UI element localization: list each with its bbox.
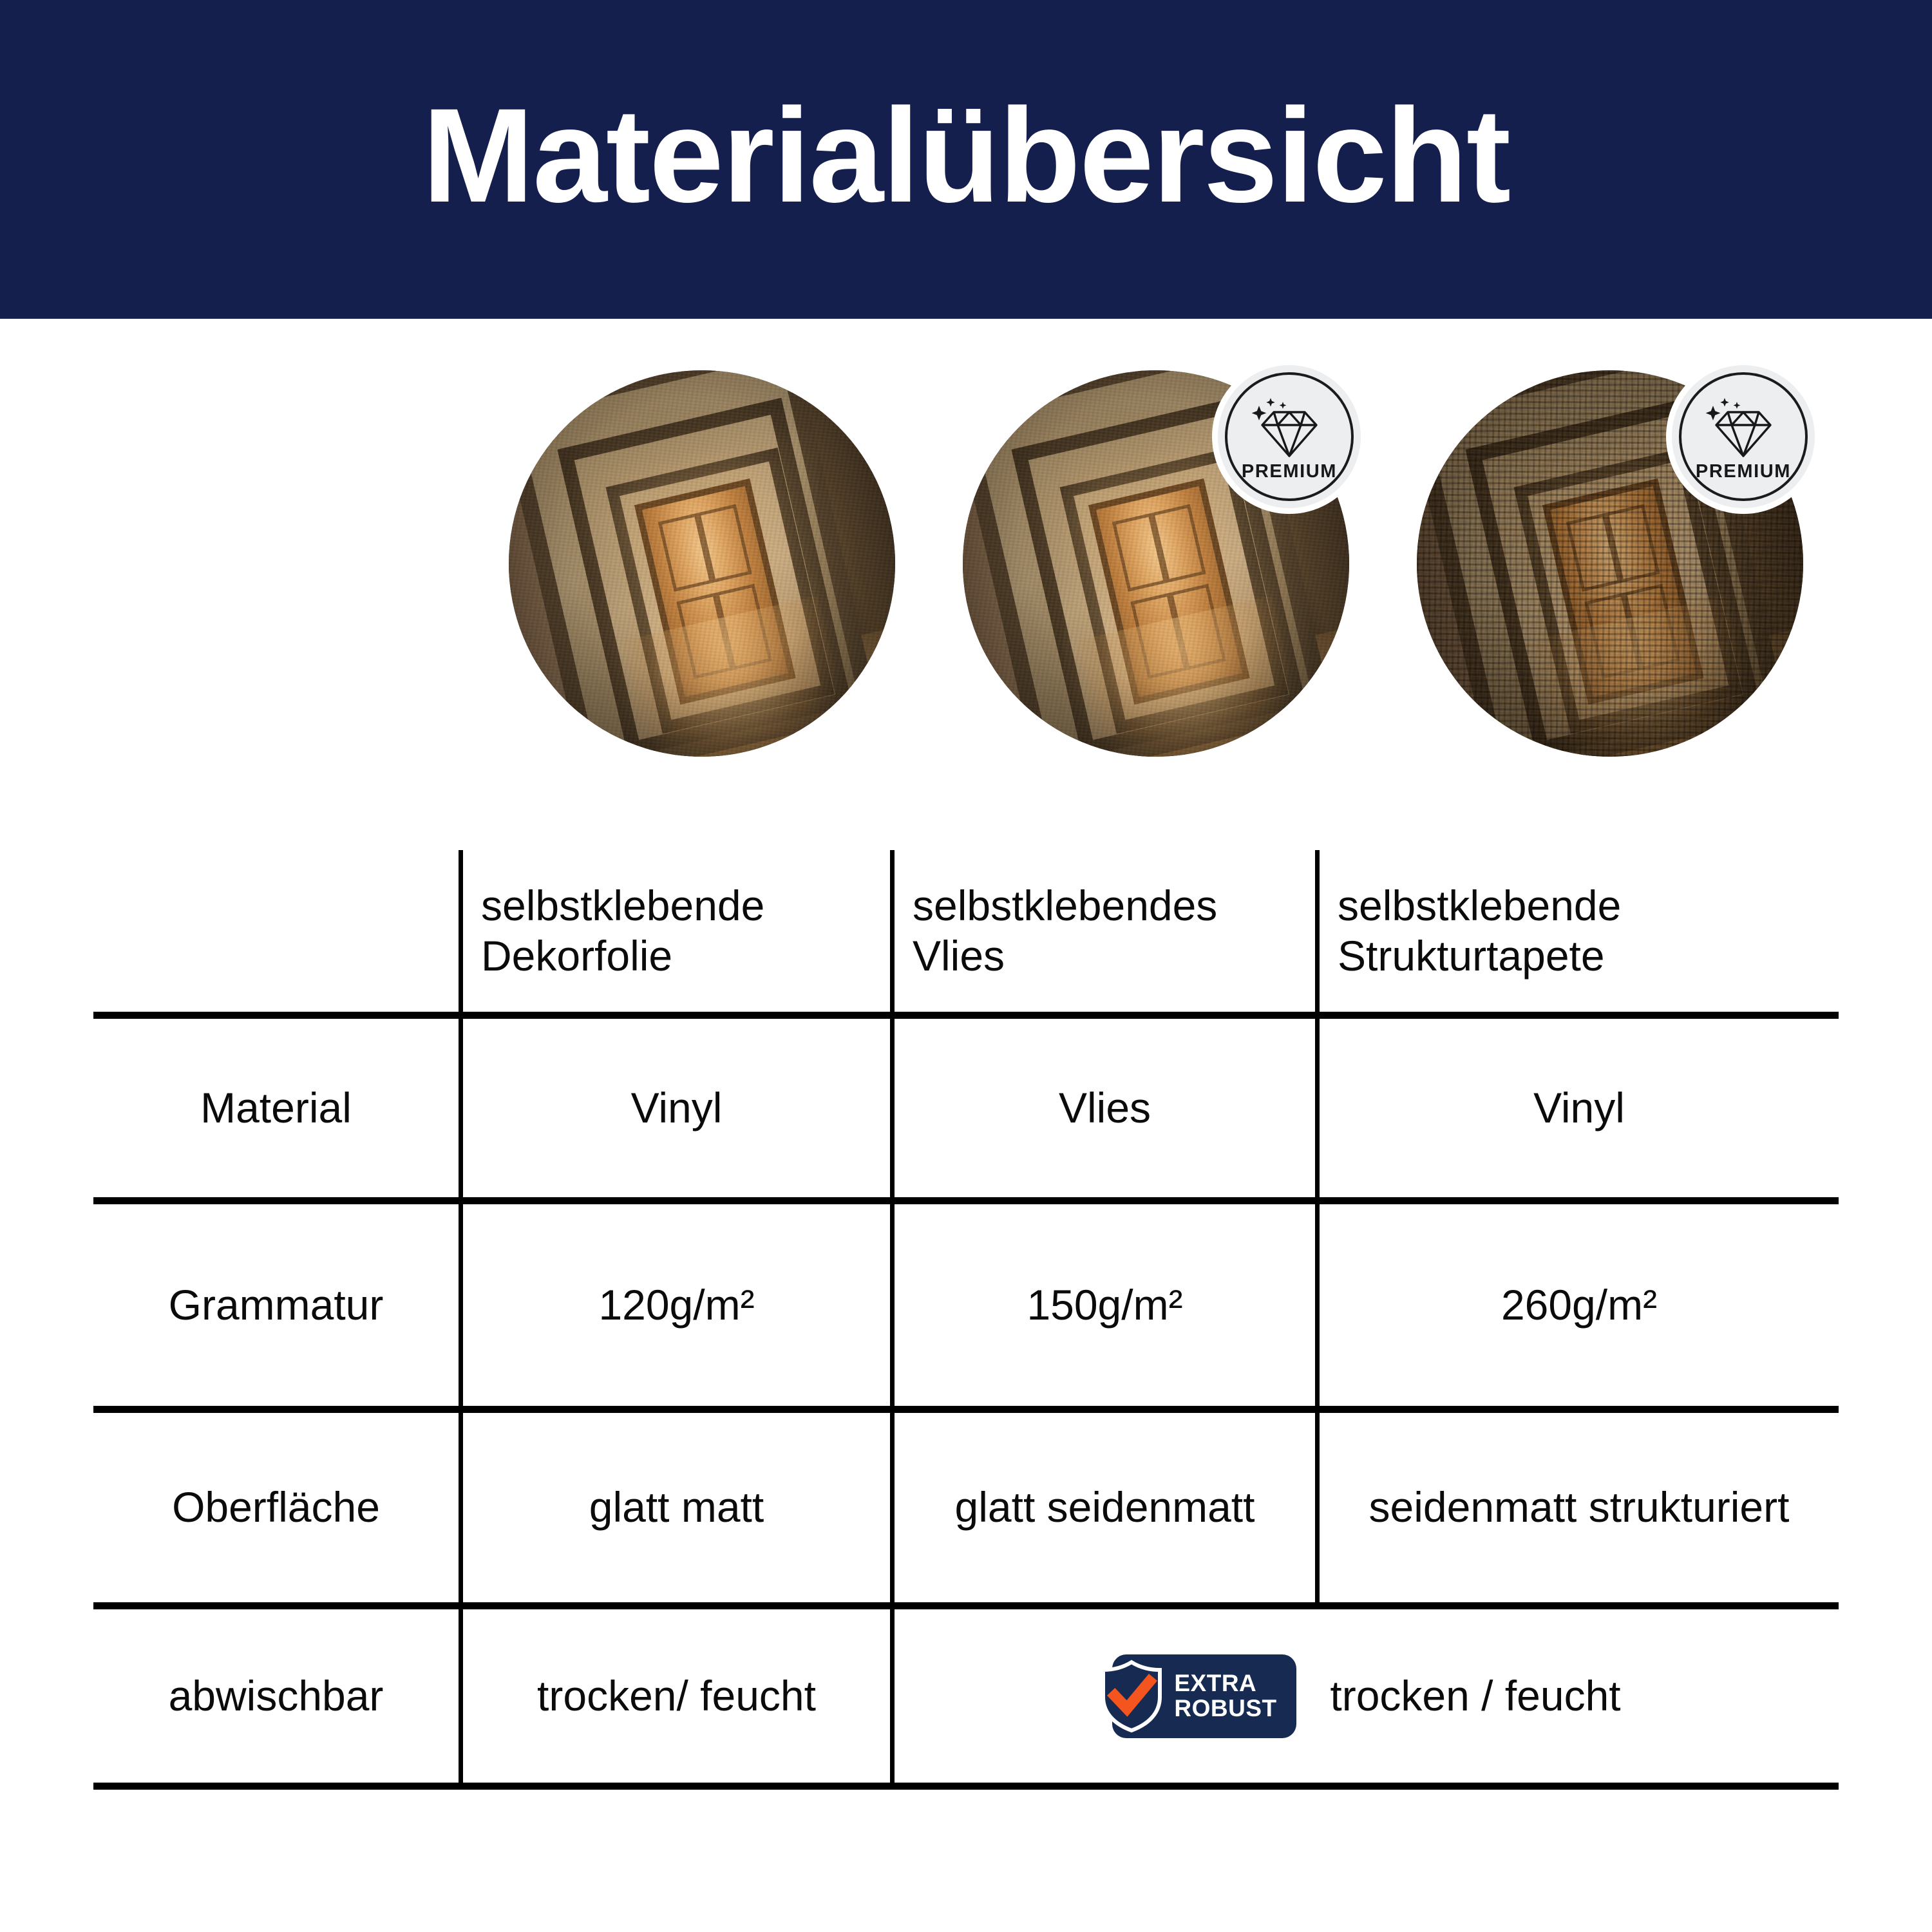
- table-corner-cell: [93, 850, 459, 1012]
- premium-badge: PREMIUM: [1672, 365, 1815, 508]
- table-row: Grammatur 120g/m² 150g/m² 260g/m²: [93, 1204, 1839, 1413]
- premium-badge-label: PREMIUM: [1696, 462, 1791, 481]
- cell-abwischbar-dekorfolie: trocken/ feucht: [459, 1609, 890, 1783]
- extra-robust-badge: EXTRA ROBUST: [1112, 1654, 1296, 1738]
- cell-abwischbar-vlies-strukturtapete: EXTRA ROBUST trocken / feucht: [890, 1609, 1839, 1783]
- table-header-row: selbstklebende Dekorfolie selbstklebende…: [93, 850, 1839, 1019]
- diamond-icon: [1251, 397, 1328, 456]
- premium-badge-label: PREMIUM: [1242, 462, 1337, 481]
- cell-material-vlies: Vlies: [890, 1019, 1315, 1197]
- cell-oberflaeche-strukturtapete: seidenmatt strukturiert: [1315, 1413, 1839, 1602]
- row-label-grammatur: Grammatur: [93, 1204, 459, 1406]
- row-label-oberflaeche: Oberfläche: [93, 1413, 459, 1602]
- doorway-artwork: [509, 370, 895, 757]
- cell-oberflaeche-vlies: glatt seidenmatt: [890, 1413, 1315, 1602]
- row-label-abwischbar: abwischbar: [93, 1609, 459, 1783]
- table-row: Oberfläche glatt matt glatt seidenmatt s…: [93, 1413, 1839, 1609]
- cell-oberflaeche-dekorfolie: glatt matt: [459, 1413, 890, 1602]
- page-title: Materialübersicht: [422, 89, 1510, 223]
- page-header: Materialübersicht: [0, 0, 1932, 319]
- row-label-material: Material: [93, 1019, 459, 1197]
- column-header-dekorfolie: selbstklebende Dekorfolie: [459, 850, 890, 1012]
- cell-grammatur-dekorfolie: 120g/m²: [459, 1204, 890, 1406]
- cell-material-dekorfolie: Vinyl: [459, 1019, 890, 1197]
- extra-robust-line1: EXTRA: [1174, 1671, 1276, 1696]
- product-preview-dekorfolie[interactable]: [509, 370, 895, 757]
- product-preview-row: PREMIUM: [0, 361, 1932, 773]
- table-row: abwischbar trocken/ feucht EXTRA ROBUST …: [93, 1609, 1839, 1790]
- cell-material-strukturtapete: Vinyl: [1315, 1019, 1839, 1197]
- column-header-strukturtapete: selbstklebende Strukturtapete: [1315, 850, 1839, 1012]
- extra-robust-line2: ROBUST: [1174, 1696, 1276, 1721]
- product-image-dekorfolie: [509, 370, 895, 757]
- cell-grammatur-vlies: 150g/m²: [890, 1204, 1315, 1406]
- premium-badge: PREMIUM: [1218, 365, 1361, 508]
- product-preview-vlies[interactable]: PREMIUM: [963, 370, 1349, 757]
- diamond-icon: [1705, 397, 1782, 456]
- extra-robust-label: EXTRA ROBUST: [1174, 1671, 1276, 1721]
- cell-abwischbar-value: trocken / feucht: [1330, 1671, 1620, 1721]
- material-comparison-table: selbstklebende Dekorfolie selbstklebende…: [93, 850, 1839, 1790]
- product-preview-strukturtapete[interactable]: PREMIUM: [1417, 370, 1803, 757]
- table-row: Material Vinyl Vlies Vinyl: [93, 1019, 1839, 1204]
- shield-check-icon: [1098, 1660, 1165, 1733]
- cell-grammatur-strukturtapete: 260g/m²: [1315, 1204, 1839, 1406]
- column-header-vlies: selbstklebendes Vlies: [890, 850, 1315, 1012]
